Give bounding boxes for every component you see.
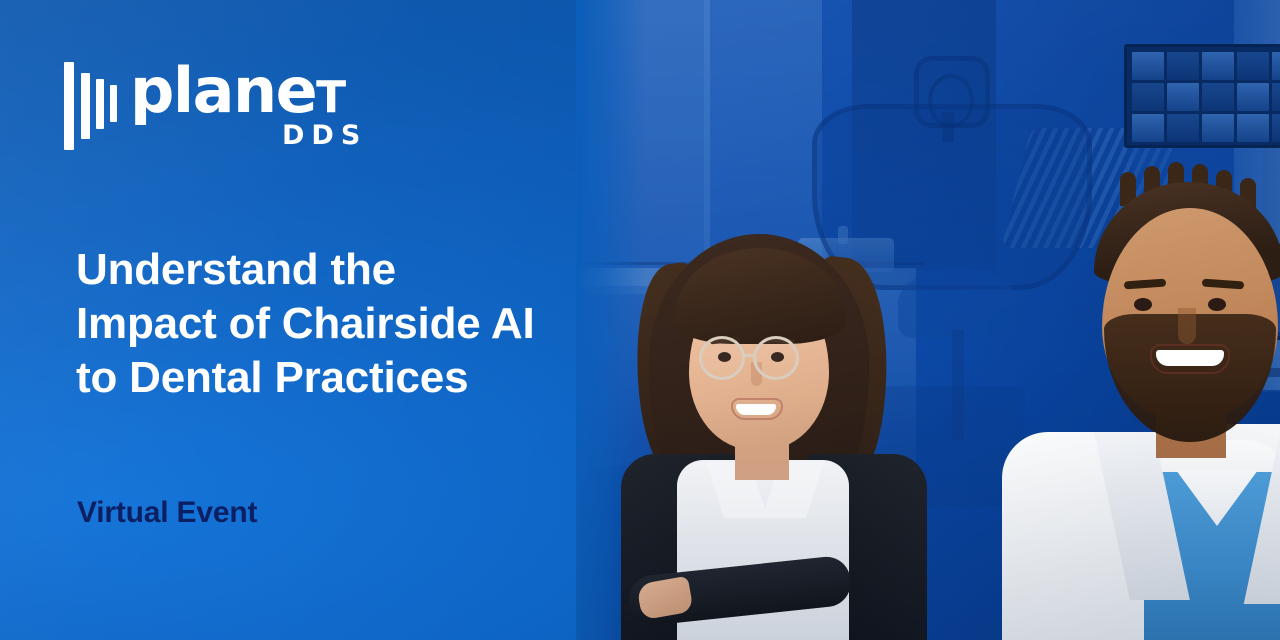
event-type-label: Virtual Event [77, 496, 257, 530]
headline-line-2: Impact of Chairside AI [76, 297, 596, 351]
logo-bar [64, 62, 74, 150]
headline-line-1: Understand the [76, 243, 596, 297]
logo-wordmark-tail: T [316, 72, 346, 123]
four-bars-icon [64, 62, 122, 150]
logo-bar [96, 79, 104, 129]
logo-bar [81, 73, 90, 139]
logo-bar [110, 85, 117, 122]
headline-line-3: to Dental Practices [76, 351, 596, 405]
logo-wordmark-main: plane [130, 54, 316, 127]
logo-subwordmark: DDS [282, 122, 367, 149]
content-panel: planeT DDS Understand the Impact of Chai… [0, 0, 1280, 640]
logo-wordmark: planeT [130, 60, 346, 122]
promo-banner: planeT DDS Understand the Impact of Chai… [0, 0, 1280, 640]
planet-dds-logo[interactable]: planeT DDS [64, 58, 394, 154]
page-title: Understand the Impact of Chairside AI to… [76, 243, 596, 405]
